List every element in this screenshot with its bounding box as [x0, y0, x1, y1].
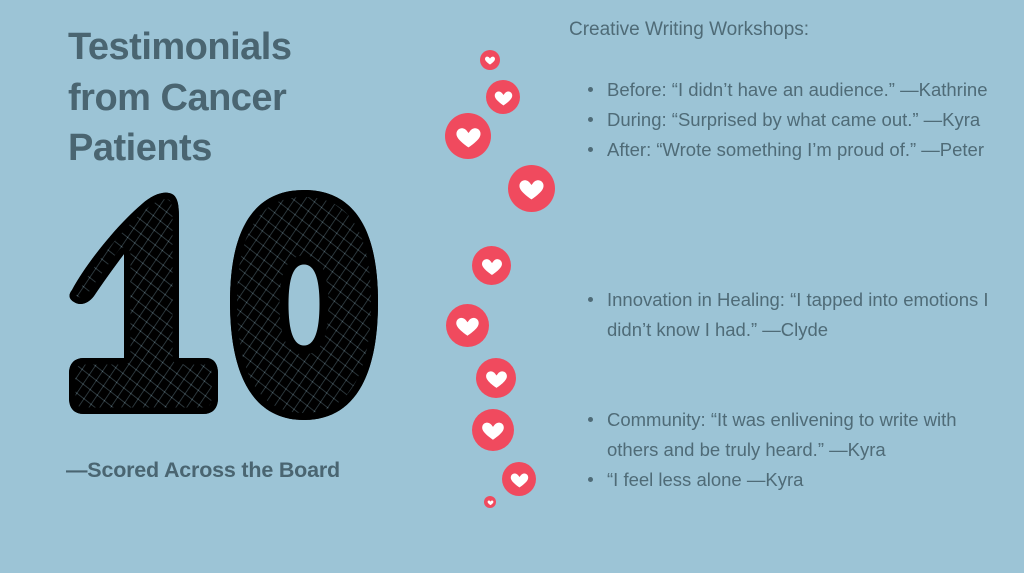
heart-icon: [508, 165, 555, 212]
heart-icon: [486, 80, 520, 114]
heart-icon: [446, 304, 489, 347]
bullet-group: Innovation in Healing: “I tapped into em…: [583, 285, 1003, 345]
bullet-dot-icon: [588, 117, 593, 122]
bullet-dot-icon: [588, 417, 593, 422]
list-item-text: Innovation in Healing: “I tapped into em…: [607, 285, 1003, 345]
heart-icon: [480, 50, 500, 70]
heart-decoration-column: [440, 0, 565, 573]
left-panel: Testimonials from Cancer Patients: [0, 0, 440, 573]
list-item-text: After: “Wrote something I’m proud of.” —…: [607, 135, 1003, 165]
heart-icon: [476, 358, 516, 398]
bullet-dot-icon: [588, 477, 593, 482]
list-item: Before: “I didn’t have an audience.” —Ka…: [583, 75, 1003, 105]
list-item: During: “Surprised by what came out.” —K…: [583, 105, 1003, 135]
heart-icon: [484, 496, 496, 508]
list-item-text: Before: “I didn’t have an audience.” —Ka…: [607, 75, 1003, 105]
heart-icon: [472, 409, 514, 451]
right-panel: Creative Writing Workshops: Before: “I d…: [565, 0, 1024, 573]
heart-icon: [502, 462, 536, 496]
heart-icon: [472, 246, 511, 285]
section-heading: Creative Writing Workshops:: [569, 18, 809, 43]
list-item: Community: “It was enlivening to write w…: [583, 405, 1003, 465]
bullet-dot-icon: [588, 87, 593, 92]
slide-canvas: Testimonials from Cancer Patients: [0, 0, 1024, 573]
page-title: Testimonials from Cancer Patients: [68, 22, 398, 174]
heart-icon: [445, 113, 491, 159]
digit-zero: [56, 182, 386, 430]
bullet-dot-icon: [588, 147, 593, 152]
score-caption: —Scored Across the Board: [66, 458, 340, 483]
list-item: After: “Wrote something I’m proud of.” —…: [583, 135, 1003, 165]
list-item: Innovation in Healing: “I tapped into em…: [583, 285, 1003, 345]
list-item: “I feel less alone —Kyra: [583, 465, 1003, 495]
bullet-group: Community: “It was enlivening to write w…: [583, 405, 1003, 495]
bullet-group: Before: “I didn’t have an audience.” —Ka…: [583, 75, 1003, 165]
list-item-text: During: “Surprised by what came out.” —K…: [607, 105, 1003, 135]
list-item-text: Community: “It was enlivening to write w…: [607, 405, 1003, 465]
big-number-graphic: [56, 182, 386, 430]
list-item-text: “I feel less alone —Kyra: [607, 465, 1003, 495]
bullet-dot-icon: [588, 297, 593, 302]
hand-drawn-ten-icon: [56, 182, 386, 430]
